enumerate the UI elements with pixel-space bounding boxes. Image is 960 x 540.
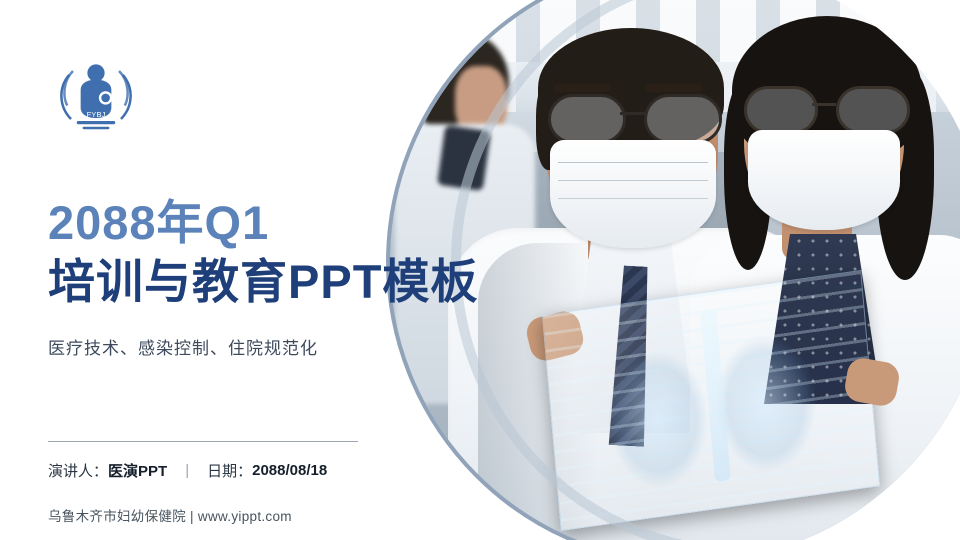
doctor-female-glasses bbox=[738, 86, 914, 130]
x-ray-glare bbox=[543, 271, 879, 530]
presentation-title-slide: FYBJ 2088年Q1 培训与教育PPT模板 医疗技术、感染控制、住院规范化 … bbox=[0, 0, 960, 540]
fybj-hospital-logo: FYBJ bbox=[48, 48, 144, 144]
glasses-bridge bbox=[812, 103, 836, 106]
divider-line bbox=[48, 441, 358, 442]
glasses-bridge bbox=[620, 112, 646, 115]
meta-separator: | bbox=[185, 462, 189, 479]
footer-text: 乌鲁木齐市妇幼保健院 | www.yippt.com bbox=[48, 505, 292, 525]
date-value: 2088/08/18 bbox=[252, 462, 327, 479]
title-line-1: 2088年Q1 bbox=[48, 196, 478, 250]
speaker-label: 演讲人： bbox=[48, 460, 108, 481]
logo-mark-text: FYBJ bbox=[87, 110, 106, 119]
speaker-value: 医演PPT bbox=[108, 460, 167, 481]
date-label: 日期： bbox=[207, 460, 252, 481]
chest-x-ray-film bbox=[542, 270, 880, 531]
title-line-2: 培训与教育PPT模板 bbox=[48, 254, 478, 310]
doctor-male-brow-left bbox=[554, 84, 610, 92]
glasses-lens-left bbox=[548, 94, 626, 144]
doctor-female-face-mask bbox=[748, 130, 900, 230]
glasses-lens-left bbox=[744, 86, 818, 134]
glasses-lens-right bbox=[836, 86, 910, 134]
meta-row: 演讲人： 医演PPT | 日期： 2088/08/18 bbox=[48, 460, 327, 481]
subtitle: 医疗技术、感染控制、住院规范化 bbox=[48, 334, 318, 359]
page-title: 2088年Q1 培训与教育PPT模板 bbox=[48, 196, 478, 310]
